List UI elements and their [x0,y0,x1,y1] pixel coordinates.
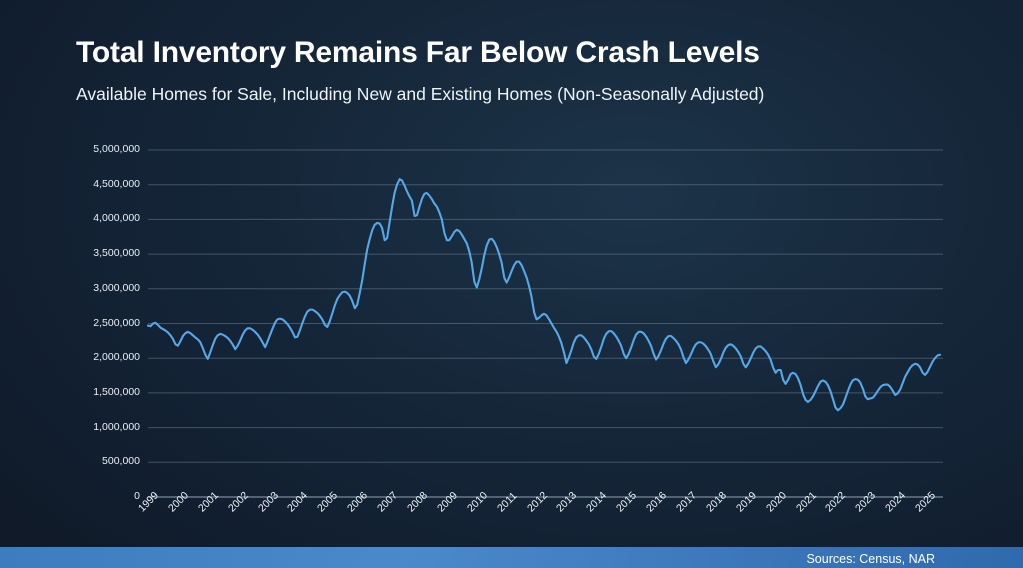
y-axis-tick-label: 4,500,000 [60,178,140,190]
y-axis-tick-label: 2,500,000 [60,317,140,329]
source-note: Sources: Census, NAR [0,552,1023,566]
chart-canvas [0,0,1023,568]
y-axis-tick-label: 1,500,000 [60,386,140,398]
slide-background: Total Inventory Remains Far Below Crash … [0,0,1023,568]
y-axis-tick-label: 5,000,000 [60,143,140,155]
line-chart: 0500,0001,000,0001,500,0002,000,0002,500… [0,0,1023,568]
y-axis-tick-label: 3,000,000 [60,282,140,294]
y-axis-tick-label: 2,000,000 [60,351,140,363]
y-axis-tick-label: 1,000,000 [60,421,140,433]
data-series-line [148,179,940,410]
y-axis-tick-label: 3,500,000 [60,247,140,259]
y-axis-tick-label: 4,000,000 [60,212,140,224]
y-axis-tick-label: 500,000 [60,455,140,467]
y-axis-tick-label: 0 [60,490,140,502]
